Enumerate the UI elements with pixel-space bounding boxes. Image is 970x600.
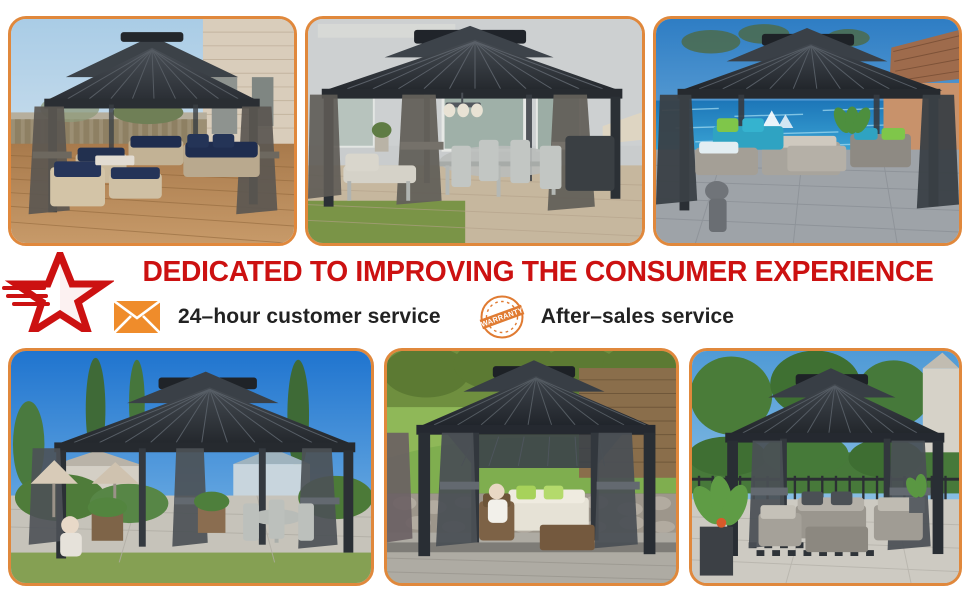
photo-gazebo-with-dining-set[interactable] <box>305 16 645 246</box>
service-label-after-sales: After–sales service <box>541 305 734 329</box>
product-banner: DEDICATED TO IMPROVING THE CONSUMER EXPE… <box>0 0 970 600</box>
red-star-swoosh-icon <box>2 252 114 332</box>
envelope-icon <box>114 301 160 333</box>
service-label-24-hour: 24–hour customer service <box>178 305 441 329</box>
promo-band: DEDICATED TO IMPROVING THE CONSUMER EXPE… <box>0 248 970 344</box>
service-item-24-hour: 24–hour customer service <box>114 301 441 333</box>
photo-gazebo-by-the-pool[interactable] <box>653 16 962 246</box>
service-item-after-sales: WARRANTY After–sales service <box>479 294 734 340</box>
warranty-stamp-icon: WARRANTY <box>479 294 525 340</box>
photo-gazebo-in-garden-patio[interactable] <box>8 348 374 586</box>
photo-gazebo-with-grey-lounge[interactable] <box>689 348 962 586</box>
promo-headline: DEDICATED TO IMPROVING THE CONSUMER EXPE… <box>114 257 961 287</box>
top-photo-row <box>8 16 962 246</box>
photo-gazebo-with-sectional-sofa[interactable] <box>384 348 679 586</box>
bottom-photo-row <box>8 348 962 586</box>
photo-gazebo-on-wood-deck[interactable] <box>8 16 297 246</box>
service-row: 24–hour customer service WARRANTY After–… <box>110 294 870 340</box>
